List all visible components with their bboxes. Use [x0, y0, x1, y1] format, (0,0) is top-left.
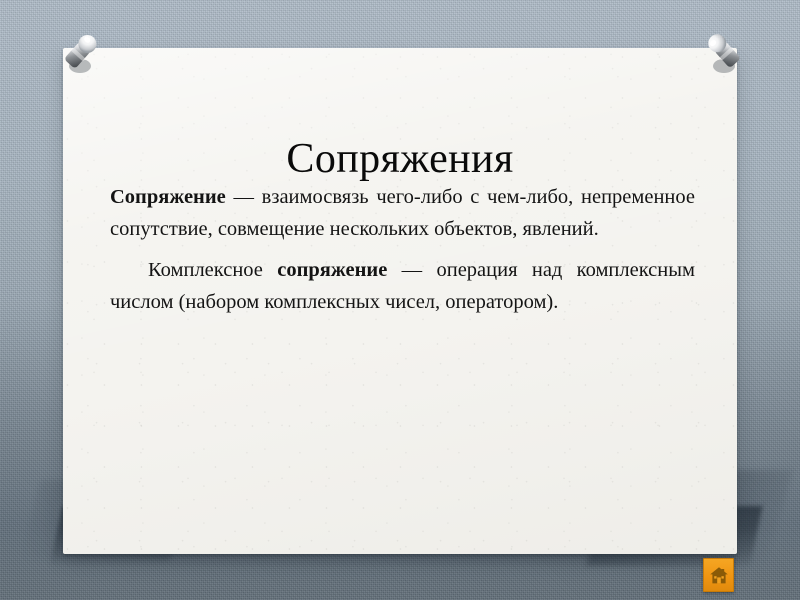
home-button[interactable] [703, 558, 734, 592]
home-icon [709, 566, 729, 585]
paragraph-1-prefix: Комплексное [148, 259, 277, 281]
pushpin-highlight [83, 36, 92, 44]
paragraph-0-term: Сопряжение [110, 186, 226, 208]
pushpin-highlight [709, 39, 718, 47]
paragraph-definition-complex: Комплексное сопряжение — операция над ко… [110, 254, 695, 318]
paragraph-definition-general: Сопряжение — взаимосвязь чего-либо с чем… [110, 181, 695, 245]
slide-canvas: Сопряжения Сопряжение — взаимосвязь чего… [0, 0, 800, 600]
paragraph-1-term: сопряжение [277, 259, 387, 281]
slide-title: Сопряжения [63, 136, 737, 182]
paper-sheet: Сопряжения Сопряжение — взаимосвязь чего… [63, 48, 737, 554]
slide-body: Сопряжение — взаимосвязь чего-либо с чем… [110, 181, 695, 327]
